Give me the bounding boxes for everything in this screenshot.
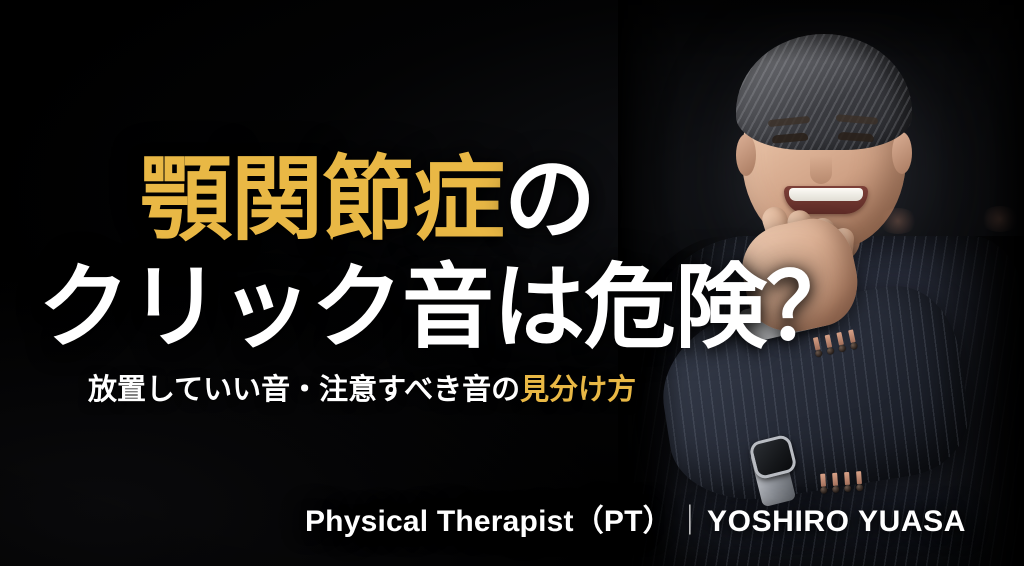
credit-role: Physical Therapist: [305, 505, 574, 538]
sleeve-button: [819, 473, 827, 493]
headline-line-1-white: の: [504, 146, 595, 253]
headline-block: 顎関節症の クリック音は危険？ 放置していい音・注意すべき音の見分け方: [0, 0, 700, 566]
headline-line-1: 顎関節症の: [140, 154, 595, 246]
credit-separator: ｜: [673, 505, 707, 538]
teeth: [789, 188, 863, 201]
subtitle-gold-part: 見分け方: [520, 372, 636, 406]
credit-name: YOSHIRO YUASA: [707, 505, 966, 538]
credit-qualification: （PT）: [574, 505, 673, 538]
ear-left: [736, 134, 756, 176]
thumbnail-canvas: 顎関節症の クリック音は危険？ 放置していい音・注意すべき音の見分け方 Phys…: [0, 0, 1024, 566]
sleeve-button: [831, 473, 839, 493]
headline-line-2: クリック音は危険？: [38, 262, 857, 354]
sleeve-button: [855, 471, 863, 491]
sleeve-button: [843, 472, 851, 492]
credit-line: Physical Therapist（PT）｜YOSHIRO YUASA: [0, 496, 966, 540]
nose: [810, 144, 832, 184]
headline-line-1-gold: 顎関節症: [140, 146, 504, 253]
subtitle-white-part: 放置していい音・注意すべき音の: [88, 372, 520, 406]
subtitle: 放置していい音・注意すべき音の見分け方: [88, 372, 636, 407]
cheek-right: [980, 206, 1020, 232]
cheek-left: [878, 208, 918, 234]
